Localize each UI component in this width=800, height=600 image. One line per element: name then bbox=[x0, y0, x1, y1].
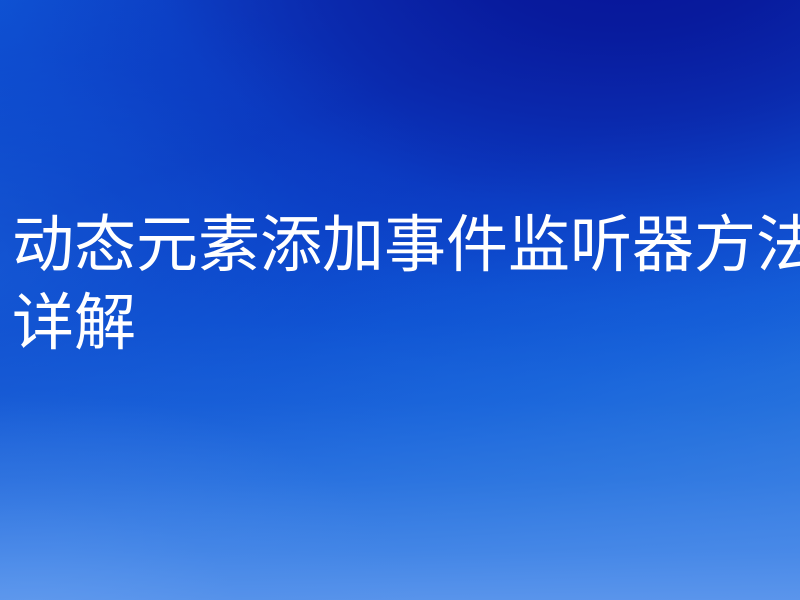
page-title-line-2: 详解 bbox=[12, 284, 800, 362]
title-card: 动态元素添加事件监听器方法 详解 bbox=[0, 0, 800, 600]
page-title: 动态元素添加事件监听器方法 详解 bbox=[12, 206, 800, 362]
page-title-line-1: 动态元素添加事件监听器方法 bbox=[12, 206, 800, 284]
